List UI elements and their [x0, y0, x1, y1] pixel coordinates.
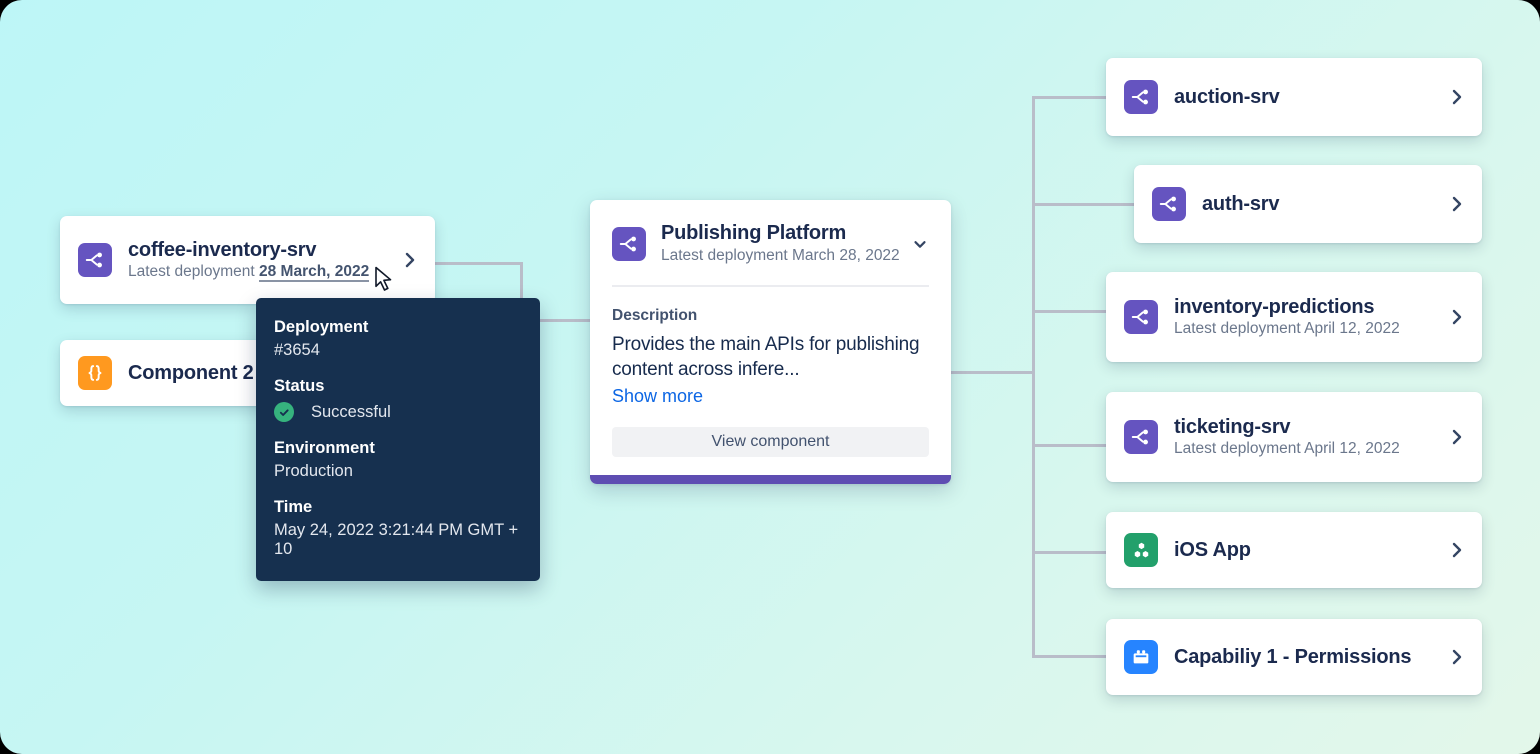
card-title: iOS App [1174, 539, 1251, 562]
description-text: Provides the main APIs for publishing co… [612, 333, 929, 382]
chevron-right-icon[interactable] [1450, 427, 1464, 447]
center-card-header: Publishing Platform Latest deployment Ma… [590, 200, 951, 265]
status-label: Status [274, 377, 522, 396]
card-content: ticketing-srv Latest deployment April 12… [1124, 416, 1438, 458]
card-text: ticketing-srv Latest deployment April 12… [1174, 416, 1400, 458]
dependency-map-canvas: coffee-inventory-srv Latest deployment 2… [0, 0, 1540, 754]
deployment-tooltip: Deployment #3654 Status Successful Envir… [256, 298, 540, 581]
card-text: inventory-predictions Latest deployment … [1174, 296, 1400, 338]
card-content: inventory-predictions Latest deployment … [1124, 296, 1438, 338]
environment-value: Production [274, 462, 522, 481]
card-title: auth-srv [1202, 193, 1279, 216]
service-icon [612, 227, 646, 261]
page-title: Publishing Platform [661, 222, 903, 245]
status-value: Successful [311, 403, 391, 422]
connector-to-inventory-predictions [1032, 310, 1108, 313]
card-title: Capabiliy 1 - Permissions [1174, 646, 1411, 669]
environment-label: Environment [274, 439, 522, 458]
card-ticketing-srv[interactable]: ticketing-srv Latest deployment April 12… [1106, 392, 1482, 482]
deployment-value: #3654 [274, 341, 522, 360]
connector-coffee-horizontal [435, 262, 523, 265]
card-text: Capabiliy 1 - Permissions [1174, 646, 1411, 669]
card-publishing-platform[interactable]: Publishing Platform Latest deployment Ma… [590, 200, 951, 484]
card-content: auth-srv [1152, 187, 1438, 221]
chevron-right-icon[interactable] [1450, 647, 1464, 667]
deployment-label: Deployment [274, 318, 522, 337]
card-auth-srv[interactable]: auth-srv [1134, 165, 1482, 243]
chevron-right-icon[interactable] [1450, 194, 1464, 214]
chevron-right-icon[interactable] [1450, 87, 1464, 107]
card-content: Capabiliy 1 - Permissions [1124, 640, 1438, 674]
card-text: iOS App [1174, 539, 1251, 562]
card-title: coffee-inventory-srv [128, 239, 369, 262]
time-value: May 24, 2022 3:21:44 PM GMT + 10 [274, 521, 522, 559]
card-content: coffee-inventory-srv Latest deployment 2… [78, 239, 391, 281]
center-card-subtitle: Latest deployment March 28, 2022 [661, 247, 903, 265]
center-card-body: Description Provides the main APIs for p… [590, 287, 951, 407]
chevron-right-icon[interactable] [1450, 540, 1464, 560]
check-circle-icon [274, 402, 294, 422]
connector-to-ticketing [1032, 444, 1108, 447]
status-badge: Successful [274, 402, 522, 422]
tooltip-group-time: Time May 24, 2022 3:21:44 PM GMT + 10 [274, 498, 522, 559]
component-icon [78, 356, 112, 390]
connector-to-auction [1032, 96, 1108, 99]
mouse-cursor [374, 266, 396, 296]
service-icon [1152, 187, 1186, 221]
show-more-link[interactable]: Show more [612, 386, 703, 407]
card-subtitle: Latest deployment April 12, 2022 [1174, 320, 1400, 338]
chevron-right-icon[interactable] [403, 250, 417, 270]
card-title: inventory-predictions [1174, 296, 1400, 319]
time-label: Time [274, 498, 522, 517]
card-title: Component 2 [128, 362, 254, 385]
card-text: coffee-inventory-srv Latest deployment 2… [128, 239, 369, 281]
connector-center-right-out [949, 371, 1035, 374]
card-content: auction-srv [1124, 80, 1438, 114]
card-content: iOS App [1124, 533, 1438, 567]
service-icon [1124, 420, 1158, 454]
card-text: Component 2 [128, 362, 254, 385]
card-subtitle: Latest deployment 28 March, 2022 [128, 263, 369, 281]
tooltip-group-status: Status Successful [274, 377, 522, 422]
card-inventory-predictions[interactable]: inventory-predictions Latest deployment … [1106, 272, 1482, 362]
app-icon [1124, 533, 1158, 567]
tooltip-group-environment: Environment Production [274, 439, 522, 481]
chevron-down-icon[interactable] [903, 235, 929, 253]
deployment-date-link[interactable]: 28 March, 2022 [259, 263, 369, 282]
connector-to-auth [1032, 203, 1136, 206]
connector-right-trunk [1032, 96, 1035, 658]
subtitle-prefix: Latest deployment [128, 263, 259, 280]
service-icon [1124, 300, 1158, 334]
card-text: auth-srv [1202, 193, 1279, 216]
card-text: auction-srv [1174, 86, 1280, 109]
card-ios-app[interactable]: iOS App [1106, 512, 1482, 588]
center-card-text: Publishing Platform Latest deployment Ma… [661, 222, 903, 265]
chevron-right-icon[interactable] [1450, 307, 1464, 327]
card-title: ticketing-srv [1174, 416, 1400, 439]
service-icon [1124, 80, 1158, 114]
capability-icon [1124, 640, 1158, 674]
connector-to-capability [1032, 655, 1108, 658]
view-component-button[interactable]: View component [612, 427, 929, 457]
tooltip-group-deployment: Deployment #3654 [274, 318, 522, 360]
card-title: auction-srv [1174, 86, 1280, 109]
accent-bar [590, 475, 951, 484]
description-label: Description [612, 307, 929, 325]
service-icon [78, 243, 112, 277]
connector-to-ios [1032, 551, 1108, 554]
card-capability-1-permissions[interactable]: Capabiliy 1 - Permissions [1106, 619, 1482, 695]
card-auction-srv[interactable]: auction-srv [1106, 58, 1482, 136]
card-subtitle: Latest deployment April 12, 2022 [1174, 440, 1400, 458]
